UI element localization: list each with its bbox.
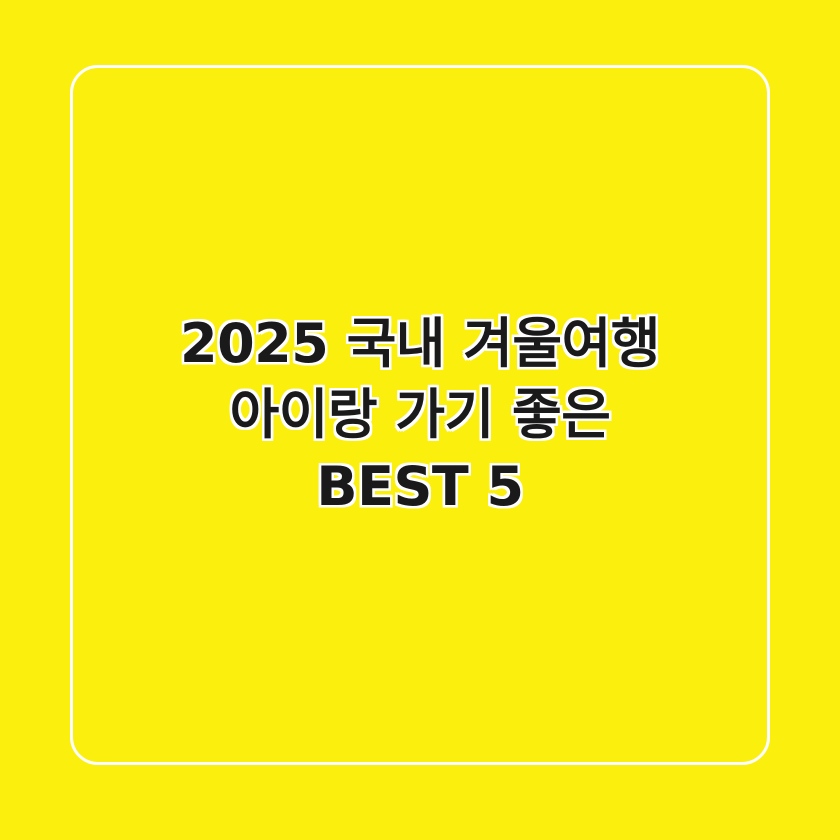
title-line-3: BEST 5 — [316, 451, 523, 522]
title-line-1: 2025 국내 겨울여행 — [180, 308, 660, 379]
title-block: 2025 국내 겨울여행 아이랑 가기 좋은 BEST 5 — [70, 65, 770, 765]
title-line-2: 아이랑 가기 좋은 — [230, 379, 611, 450]
